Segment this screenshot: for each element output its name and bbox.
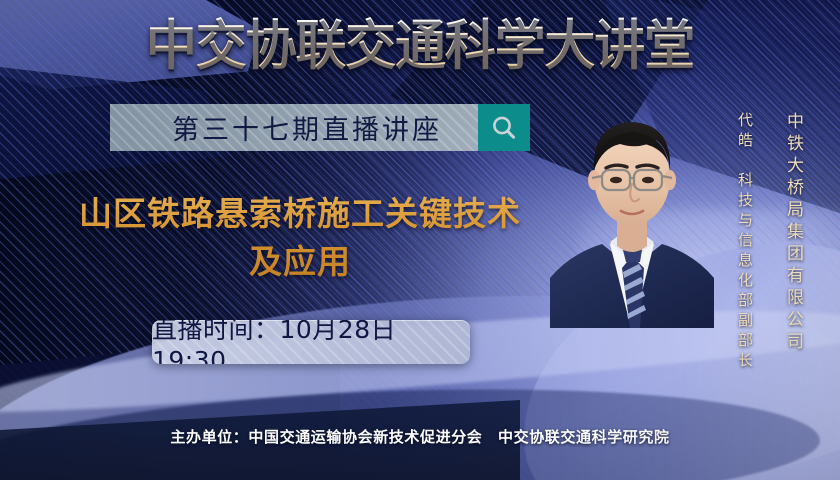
lecture-topic: 山区铁路悬索桥施工关键技术 及应用 bbox=[30, 190, 570, 286]
speaker-company: 中铁大桥局集团有限公司 bbox=[781, 112, 806, 354]
speaker-name-title: 代皓 科技与信息化部副部长 bbox=[735, 112, 756, 372]
organizers-footer: 主办单位：中国交通运输协会新技术促进分会 中交协联交通科学研究院 bbox=[0, 426, 840, 447]
speaker-portrait-illustration bbox=[548, 96, 716, 328]
broadcast-time-text: 直播时间：10月28日19:30 bbox=[152, 320, 470, 364]
episode-banner: 第三十七期直播讲座 bbox=[110, 104, 530, 151]
broadcast-time-badge: 直播时间：10月28日19:30 bbox=[152, 320, 470, 364]
episode-label: 第三十七期直播讲座 bbox=[146, 108, 442, 147]
speaker-portrait bbox=[548, 96, 716, 328]
search-icon-glyph bbox=[489, 113, 519, 143]
lecture-topic-line-2: 及应用 bbox=[30, 238, 570, 286]
search-icon[interactable] bbox=[478, 104, 530, 151]
page-title: 中交协联交通科学大讲堂 bbox=[25, 16, 815, 76]
episode-banner-body: 第三十七期直播讲座 bbox=[110, 104, 478, 151]
webinar-poster: 中铁大桥局集团有限公司 代皓 科技与信息化部副部长 中交协联交通科学大讲堂 第三… bbox=[0, 0, 840, 480]
lecture-topic-line-1: 山区铁路悬索桥施工关键技术 bbox=[30, 190, 570, 238]
